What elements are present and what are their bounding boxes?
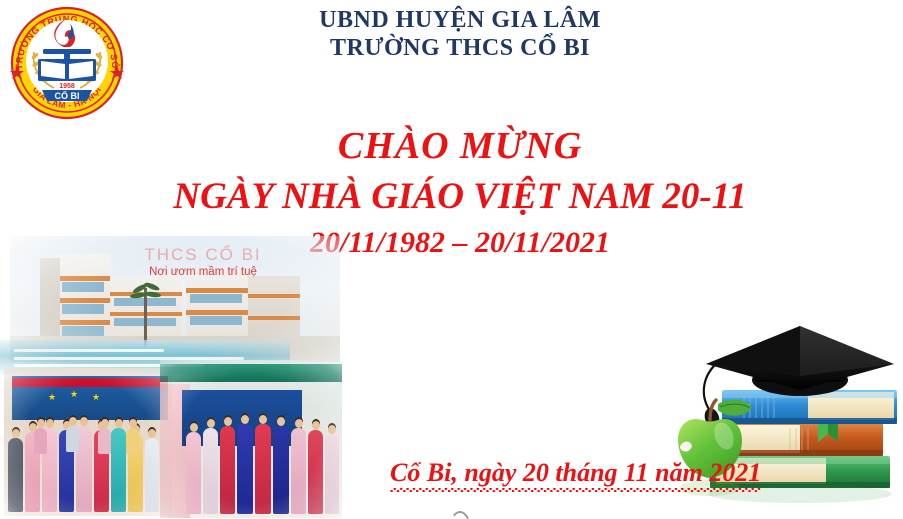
slide-canvas: TRƯỜNG TRUNG HỌC CƠ SỞ GIA LÂM - HÀ NỘI <box>0 0 903 519</box>
bottom-arc-decoration <box>449 511 471 519</box>
title-greeting: CHÀO MỪNG <box>110 124 810 169</box>
logo-year-text: 1958 <box>59 83 75 90</box>
logo-school-short-text: CỔ BI <box>54 90 79 101</box>
teachers-group-photo-right <box>160 360 342 518</box>
teachers-group-photo-left: ★ ★ ★ <box>4 368 172 516</box>
school-photo-caption: THCS CỔ BI Nơi ươm mầm trí tuệ <box>128 246 278 278</box>
school-emblem-logo: TRƯỜNG TRUNG HỌC CƠ SỞ GIA LÂM - HÀ NỘI <box>6 4 128 122</box>
photo-collage: THCS CỔ BI Nơi ươm mầm trí tuệ ★ ★ ★ <box>0 228 345 519</box>
school-photo-caption-slogan: Nơi ươm mầm trí tuệ <box>128 266 278 279</box>
title-event-name: NGÀY NHÀ GIÁO VIỆT NAM 20-11 <box>110 174 810 219</box>
header-line-1: UBND HUYỆN GIA LÂM <box>200 6 720 34</box>
header-org-title: UBND HUYỆN GIA LÂM TRƯỜNG THCS CỔ BI <box>200 6 720 63</box>
logo-book-icon <box>38 59 96 81</box>
header-line-2: TRƯỜNG THCS CỔ BI <box>200 34 720 62</box>
footer-place-date-text: Cổ Bi, ngày 20 tháng 11 năm 2021 <box>390 458 761 491</box>
footer-place-date: Cổ Bi, ngày 20 tháng 11 năm 2021 <box>390 458 860 491</box>
school-photo-caption-title: THCS CỔ BI <box>128 246 278 265</box>
